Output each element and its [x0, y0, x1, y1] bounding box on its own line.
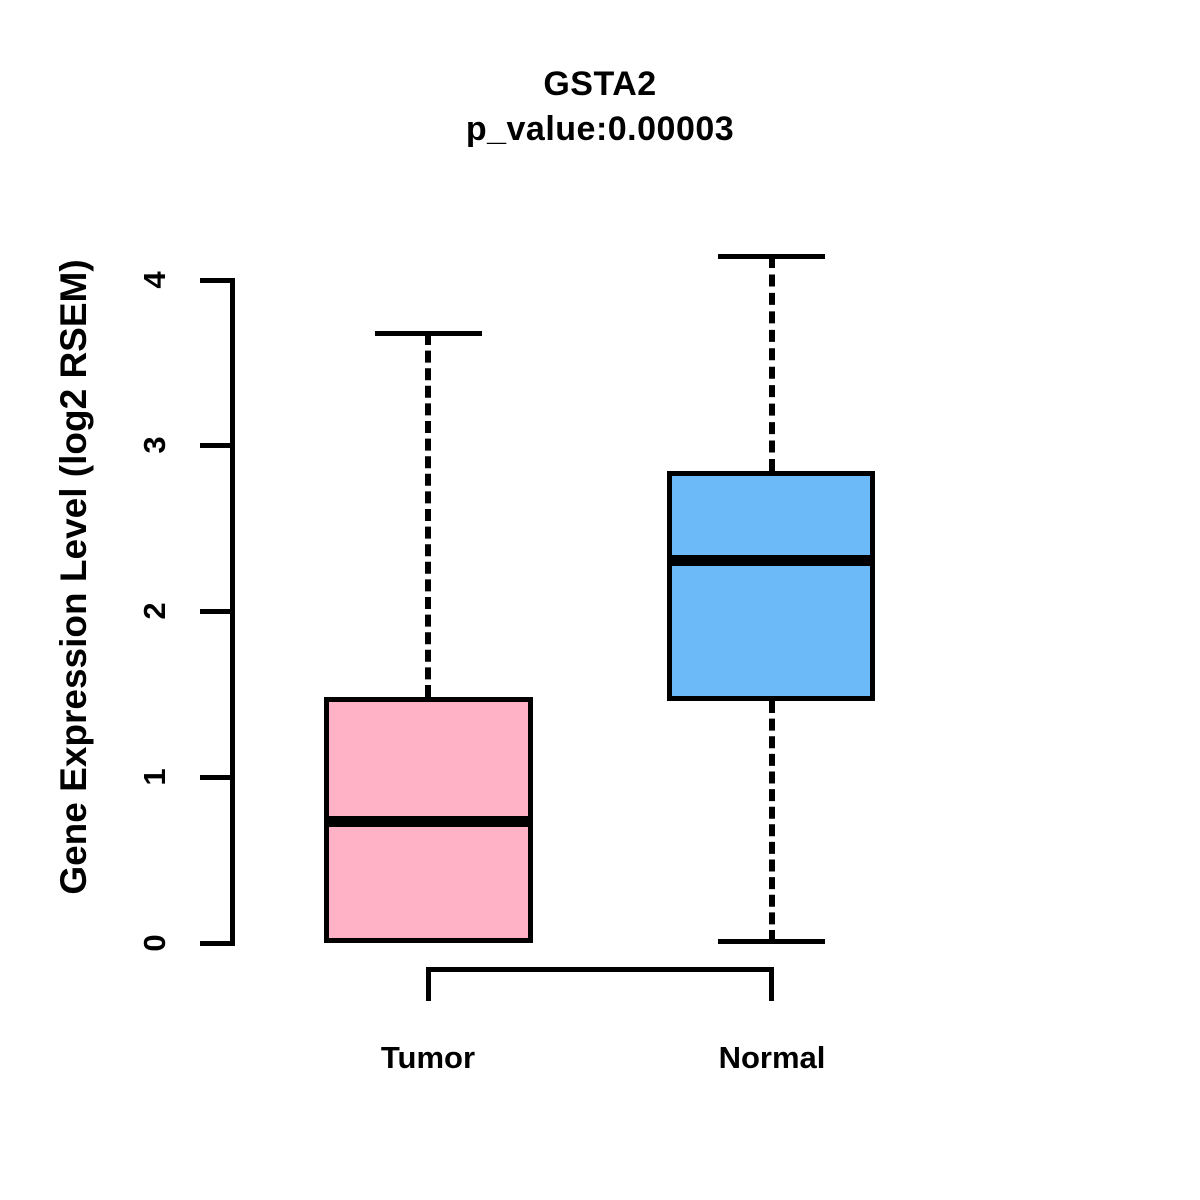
y-tick-2 — [200, 609, 232, 614]
y-tick-label-2: 2 — [137, 591, 173, 631]
normal-lower-whisker — [769, 701, 775, 942]
y-tick-4 — [200, 278, 232, 283]
x-tick-label-normal: Normal — [672, 1040, 872, 1076]
tumor-median-line — [324, 816, 533, 827]
significance-bracket — [426, 967, 774, 1001]
tumor-upper-whisker — [425, 333, 431, 697]
normal-lower-whisker-cap — [718, 939, 825, 944]
y-axis-label: Gene Expression Level (log2 RSEM) — [53, 167, 95, 987]
y-tick-label-0: 0 — [137, 923, 173, 963]
y-tick-label-1: 1 — [137, 757, 173, 797]
y-tick-label-4: 4 — [137, 260, 173, 300]
y-tick-label-3: 3 — [137, 425, 173, 465]
x-tick-label-tumor: Tumor — [328, 1040, 528, 1076]
chart-subtitle-pvalue: p_value:0.00003 — [0, 106, 1200, 152]
chart-title-block: GSTA2 p_value:0.00003 — [0, 62, 1200, 152]
normal-box[interactable] — [667, 471, 875, 701]
y-tick-3 — [200, 443, 232, 448]
tumor-upper-whisker-cap — [375, 331, 482, 336]
boxplot-figure: GSTA2 p_value:0.00003 Gene Expression Le… — [0, 0, 1200, 1200]
page-title: GSTA2 — [0, 62, 1200, 106]
normal-median-line — [667, 555, 875, 566]
y-tick-0 — [200, 941, 232, 946]
y-tick-1 — [200, 775, 232, 780]
normal-upper-whisker — [769, 256, 775, 471]
normal-upper-whisker-cap — [718, 254, 825, 259]
